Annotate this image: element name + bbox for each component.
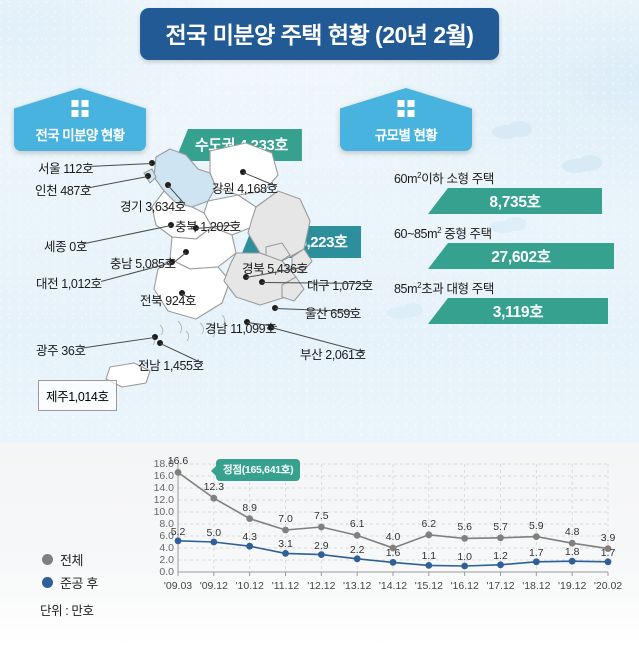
scale-row-medium-value: 27,602호 xyxy=(428,243,614,269)
legend-label-after: 준공 후 xyxy=(60,573,98,592)
x-axis-tick-label: '17.12 xyxy=(486,580,514,592)
map-label: 부산 2,061호 xyxy=(300,344,366,363)
chart-value-label: 6.1 xyxy=(350,518,365,530)
map-label: 대구 1,072호 xyxy=(307,275,373,294)
chart-unit-label: 단위 : 만호 xyxy=(40,600,94,619)
peak-annotation: 정점(165,641호) xyxy=(216,459,300,481)
chart-value-label: 4.0 xyxy=(386,531,401,543)
x-axis-tick-label: '10.12 xyxy=(236,580,264,592)
x-axis-tick-label: '20.02 xyxy=(594,580,622,592)
house-roof xyxy=(14,88,146,121)
chart-value-label: 1.0 xyxy=(457,551,472,563)
chart-value-label: 2.9 xyxy=(314,540,329,552)
chart-value-label: 7.0 xyxy=(278,513,293,525)
infographic-page: 전국 미분양 주택 현황 (20년 2월) 전국 미분양 현황 규모별 현황 미… xyxy=(0,0,639,647)
map-label: 대전 1,012호 xyxy=(36,273,102,292)
map-label: 강원 4,168호 xyxy=(212,178,278,197)
chart-data-point xyxy=(461,535,468,542)
cloud-icon xyxy=(560,152,610,174)
legend-swatch-total xyxy=(42,554,53,565)
cloud-icon xyxy=(386,300,430,320)
scale-row-small: 60m2이하 소형 주택 8,735호 xyxy=(386,168,634,214)
x-axis-tick-label: '16.12 xyxy=(451,580,479,592)
chart-value-label: 2.2 xyxy=(350,544,365,556)
y-axis-tick-label: 4.0 xyxy=(144,542,174,554)
legend-swatch-after xyxy=(42,577,53,588)
chart-data-point xyxy=(318,524,325,531)
legend-label-total: 전체 xyxy=(60,550,83,569)
cloud-icon xyxy=(488,214,534,234)
x-axis-tick-label: '09.12 xyxy=(200,580,228,592)
x-axis-tick-label: '11.12 xyxy=(272,580,300,592)
legend-item-after: 준공 후 xyxy=(42,573,98,592)
chart-value-label: 6.2 xyxy=(422,518,437,530)
chart-value-label: 7.5 xyxy=(314,510,329,522)
chart-value-label: 5.2 xyxy=(171,526,186,538)
chart-value-label: 1.6 xyxy=(386,547,401,559)
x-axis-tick-label: '12.12 xyxy=(307,580,335,592)
chart-data-point xyxy=(210,539,217,546)
y-axis-tick-label: 14.0 xyxy=(144,482,174,494)
chart-data-point xyxy=(497,534,504,541)
unsold-housing-line-chart: 정점(165,641호) 0.02.04.06.08.010.012.014.0… xyxy=(150,450,620,598)
y-axis-tick-label: 6.0 xyxy=(144,530,174,542)
window-icon xyxy=(398,100,415,117)
map-label: 세종 0호 xyxy=(44,236,87,255)
scale-row-small-value: 8,735호 xyxy=(428,188,602,214)
x-axis-tick-label: '15.12 xyxy=(415,580,443,592)
page-title: 전국 미분양 주택 현황 (20년 2월) xyxy=(140,8,500,60)
map-label: 인천 487호 xyxy=(35,180,91,199)
chart-data-point xyxy=(354,532,361,539)
scale-row-large-value: 3,119호 xyxy=(428,298,608,324)
chart-value-label: 3.9 xyxy=(601,532,616,544)
chart-legend: 전체 준공 후 xyxy=(42,550,98,596)
legend-item-total: 전체 xyxy=(42,550,98,569)
chart-data-point xyxy=(354,555,361,562)
house-roof xyxy=(340,88,472,121)
chart-value-label: 8.9 xyxy=(242,502,257,514)
chart-data-point xyxy=(175,469,182,476)
chart-value-label: 4.3 xyxy=(242,531,257,543)
chart-data-point xyxy=(282,527,289,534)
chart-data-point xyxy=(605,558,612,565)
y-axis-tick-label: 16.0 xyxy=(144,470,174,482)
chart-data-point xyxy=(390,559,397,566)
chart-value-label: 1.7 xyxy=(601,547,616,559)
chart-data-point xyxy=(461,563,468,570)
chart-data-point xyxy=(210,495,217,502)
chart-data-point xyxy=(282,550,289,557)
y-axis-tick-label: 10.0 xyxy=(144,506,174,518)
chart-value-label: 12.3 xyxy=(204,481,224,493)
x-axis-tick-label: '14.12 xyxy=(379,580,407,592)
y-axis-tick-label: 0.0 xyxy=(144,566,174,578)
chart-value-label: 5.7 xyxy=(493,521,508,533)
chart-data-point xyxy=(246,543,253,550)
map-label: 광주 36호 xyxy=(36,340,85,359)
y-axis-tick-label: 8.0 xyxy=(144,518,174,530)
map-label: 경남 11,099호 xyxy=(205,318,276,337)
jeju-label-box: 제주1,014호 xyxy=(38,380,117,411)
chart-value-label: 16.6 xyxy=(168,455,188,467)
scale-row-large-caption: 85m2초과 대형 주택 xyxy=(386,278,634,297)
chart-value-label: 5.0 xyxy=(207,527,222,539)
chart-value-label: 1.7 xyxy=(529,547,544,559)
chart-data-point xyxy=(569,558,576,565)
chart-value-label: 4.8 xyxy=(565,526,580,538)
chart-value-label: 5.6 xyxy=(457,521,472,533)
chart-data-point xyxy=(533,558,540,565)
chart-value-label: 3.1 xyxy=(278,538,293,550)
chart-data-point xyxy=(246,515,253,522)
chart-value-label: 1.2 xyxy=(493,550,508,562)
chart-value-label: 5.9 xyxy=(529,520,544,532)
x-axis-tick-label: '19.12 xyxy=(558,580,586,592)
window-icon xyxy=(72,100,89,117)
chart-data-point xyxy=(425,531,432,538)
chart-value-label: 1.8 xyxy=(565,546,580,558)
x-axis-tick-label: '13.12 xyxy=(343,580,371,592)
chart-data-point xyxy=(533,533,540,540)
chart-data-point xyxy=(425,562,432,569)
chart-value-label: 1.1 xyxy=(422,550,437,562)
y-axis-tick-label: 2.0 xyxy=(144,554,174,566)
map-label: 전북 924호 xyxy=(140,290,196,309)
map-label: 울산 659호 xyxy=(305,303,361,322)
y-axis-tick-label: 12.0 xyxy=(144,494,174,506)
map-label: 서울 112호 xyxy=(38,158,93,177)
chart-data-point xyxy=(497,561,504,568)
cloud-icon xyxy=(490,118,540,140)
chart-data-point xyxy=(175,537,182,544)
chart-data-point xyxy=(318,551,325,558)
map-label: 경기 3,634호 xyxy=(120,196,186,215)
x-axis-tick-label: '18.12 xyxy=(522,580,550,592)
x-axis-tick-label: '09.03 xyxy=(164,580,192,592)
